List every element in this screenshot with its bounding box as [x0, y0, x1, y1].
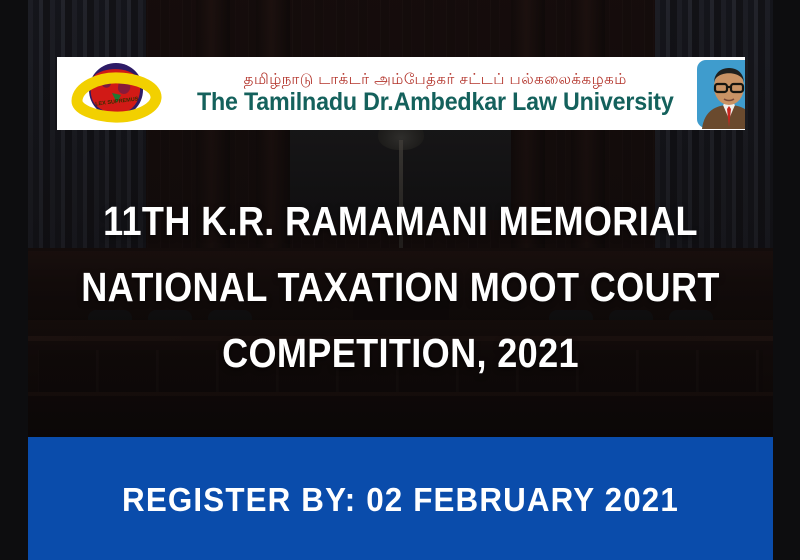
university-name-english: The Tamilnadu Dr.Ambedkar Law University: [197, 90, 674, 115]
event-title-line-2: NATIONAL TAXATION MOOT COURT: [73, 254, 729, 320]
ambedkar-portrait-icon: [696, 59, 745, 129]
university-name-tamil: தமிழ்நாடு டாக்டர் அம்பேத்கர் சட்டப் பல்க…: [179, 72, 692, 87]
university-name-block: தமிழ்நாடு டாக்டர் அம்பேத்கர் சட்டப் பல்க…: [175, 72, 696, 115]
event-title-line-3: COMPETITION, 2021: [73, 320, 729, 386]
registration-deadline-bar: REGISTER BY: 02 FEBRUARY 2021: [28, 437, 773, 560]
university-logo: LEX SUPREMUS: [57, 57, 175, 130]
event-title: 11TH K.R. RAMAMANI MEMORIAL NATIONAL TAX…: [73, 188, 729, 386]
left-black-margin: [0, 0, 28, 560]
university-banner: LEX SUPREMUS தமிழ்நாடு டாக்டர் அம்பேத்கர…: [57, 57, 745, 130]
event-title-line-1: 11TH K.R. RAMAMANI MEMORIAL: [73, 188, 729, 254]
right-black-margin: [773, 0, 800, 560]
ambedkar-portrait: [696, 59, 745, 129]
event-poster: LEX SUPREMUS தமிழ்நாடு டாக்டர் அம்பேத்கர…: [0, 0, 800, 560]
registration-deadline-text: REGISTER BY: 02 FEBRUARY 2021: [47, 481, 755, 519]
globe-logo-icon: LEX SUPREMUS: [57, 57, 175, 130]
